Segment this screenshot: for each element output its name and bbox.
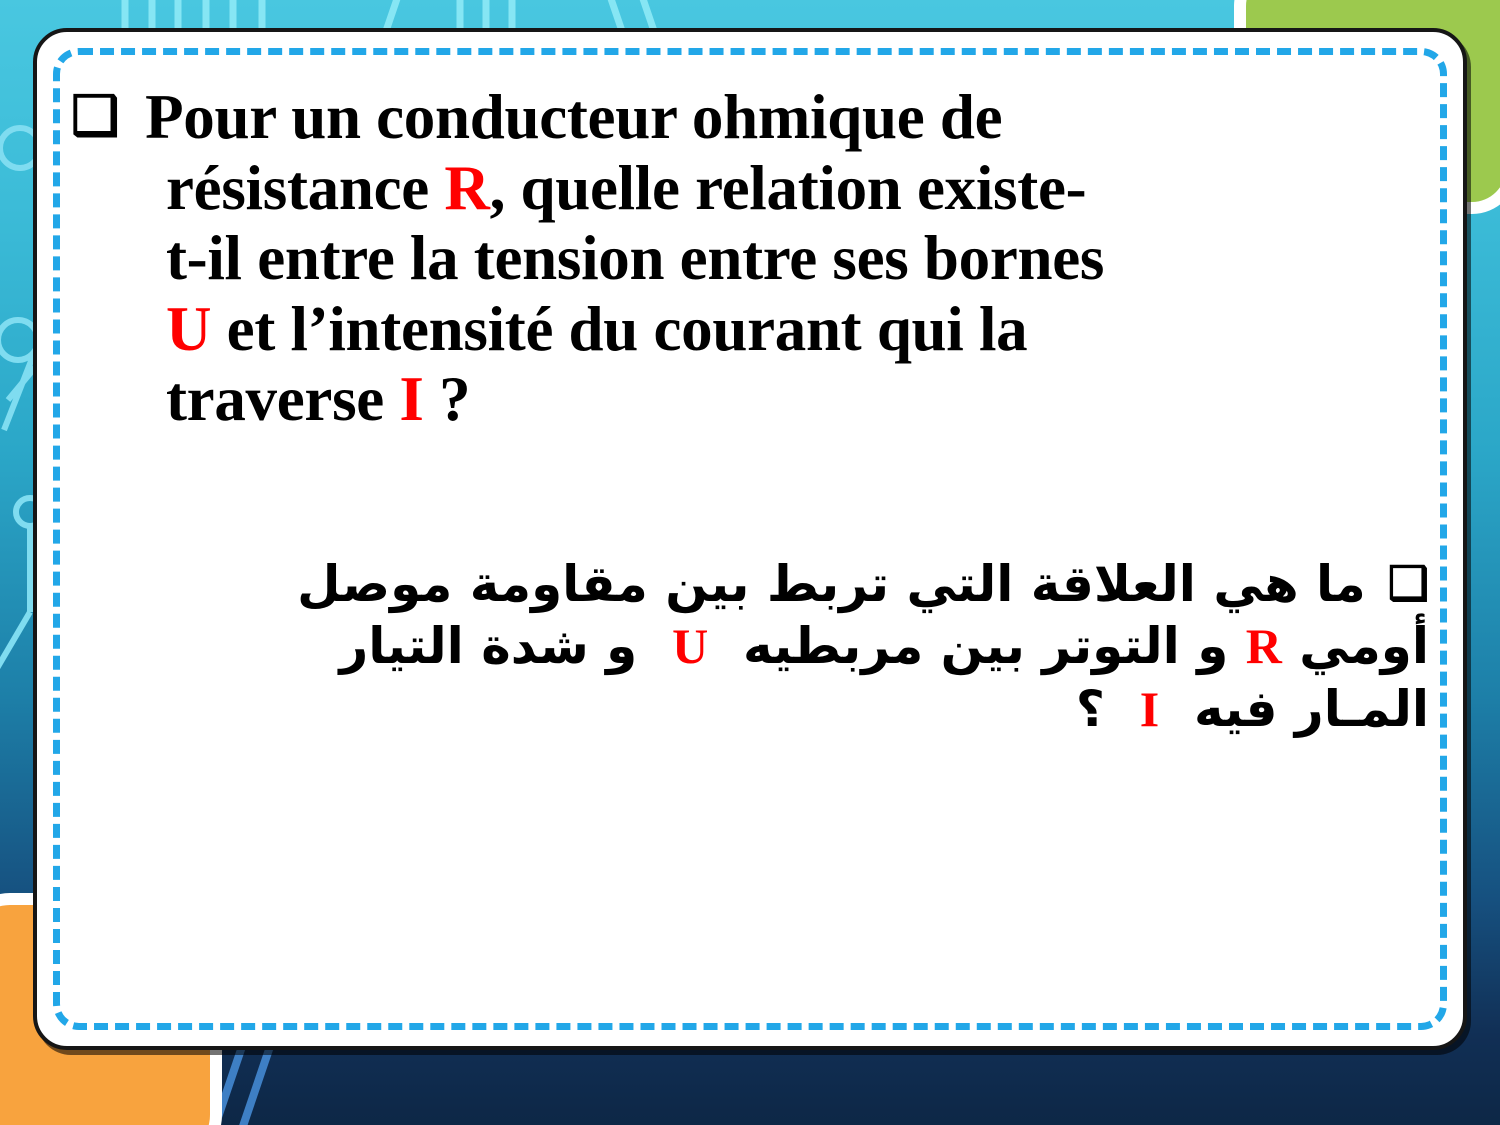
arabic-line-3: المـار فيه I ؟ bbox=[71, 678, 1429, 741]
french-line-2-text-b: , quelle relation existe- bbox=[490, 153, 1087, 223]
french-line-1: ❑Pour un conducteur ohmique de bbox=[71, 82, 1429, 153]
french-line-2: résistance R, quelle relation existe- bbox=[71, 153, 1429, 224]
content-card: ❑Pour un conducteur ohmique de résistanc… bbox=[33, 28, 1467, 1050]
french-line-5: traverse I ? bbox=[71, 364, 1429, 435]
french-line-1-text: Pour un conducteur ohmique de bbox=[145, 82, 1002, 152]
slide-canvas: ❑Pour un conducteur ohmique de résistanc… bbox=[0, 0, 1500, 1125]
symbol-R: R bbox=[444, 153, 489, 223]
arabic-line-1-text: ما هي العلاقة التي تربط بين مقاومة موصل bbox=[297, 555, 1366, 613]
french-line-3-text: t-il entre la tension entre ses bornes bbox=[166, 223, 1104, 293]
french-line-2-text-a: résistance bbox=[166, 153, 444, 223]
french-line-4: U et l’intensité du courant qui la bbox=[71, 294, 1429, 365]
card-content: ❑Pour un conducteur ohmique de résistanc… bbox=[37, 32, 1463, 1046]
checkbox-bullet-icon: ❑ bbox=[71, 89, 119, 143]
symbol-I: I bbox=[399, 364, 423, 434]
arabic-line-2-text-a: أومي bbox=[1282, 617, 1429, 675]
checkbox-bullet-icon-arabic: ❑ bbox=[1388, 561, 1429, 607]
symbol-U-arabic: U bbox=[672, 618, 708, 674]
french-line-5-text-a: traverse bbox=[166, 364, 399, 434]
arabic-line-3-text-b: ؟ bbox=[1076, 680, 1140, 738]
symbol-I-arabic: I bbox=[1140, 681, 1159, 737]
arabic-line-2-text-b: و التوتر بين مربطيه bbox=[708, 617, 1246, 675]
french-line-4-text-b: et l’intensité du courant qui la bbox=[211, 294, 1027, 364]
symbol-U: U bbox=[166, 294, 211, 364]
arabic-line-2: أومي R و التوتر بين مربطيه U و شدة التيا… bbox=[71, 615, 1429, 678]
symbol-R-arabic: R bbox=[1246, 618, 1282, 674]
arabic-line-3-text-a: المـار فيه bbox=[1159, 680, 1429, 738]
french-line-3: t-il entre la tension entre ses bornes bbox=[71, 223, 1429, 294]
french-line-5-text-b: ? bbox=[424, 364, 471, 434]
arabic-question-block: ❑ما هي العلاقة التي تربط بين مقاومة موصل… bbox=[71, 553, 1429, 741]
arabic-line-2-text-c: و شدة التيار bbox=[340, 617, 673, 675]
arabic-line-1: ❑ما هي العلاقة التي تربط بين مقاومة موصل bbox=[71, 553, 1429, 616]
french-question-block: ❑Pour un conducteur ohmique de résistanc… bbox=[71, 82, 1429, 435]
